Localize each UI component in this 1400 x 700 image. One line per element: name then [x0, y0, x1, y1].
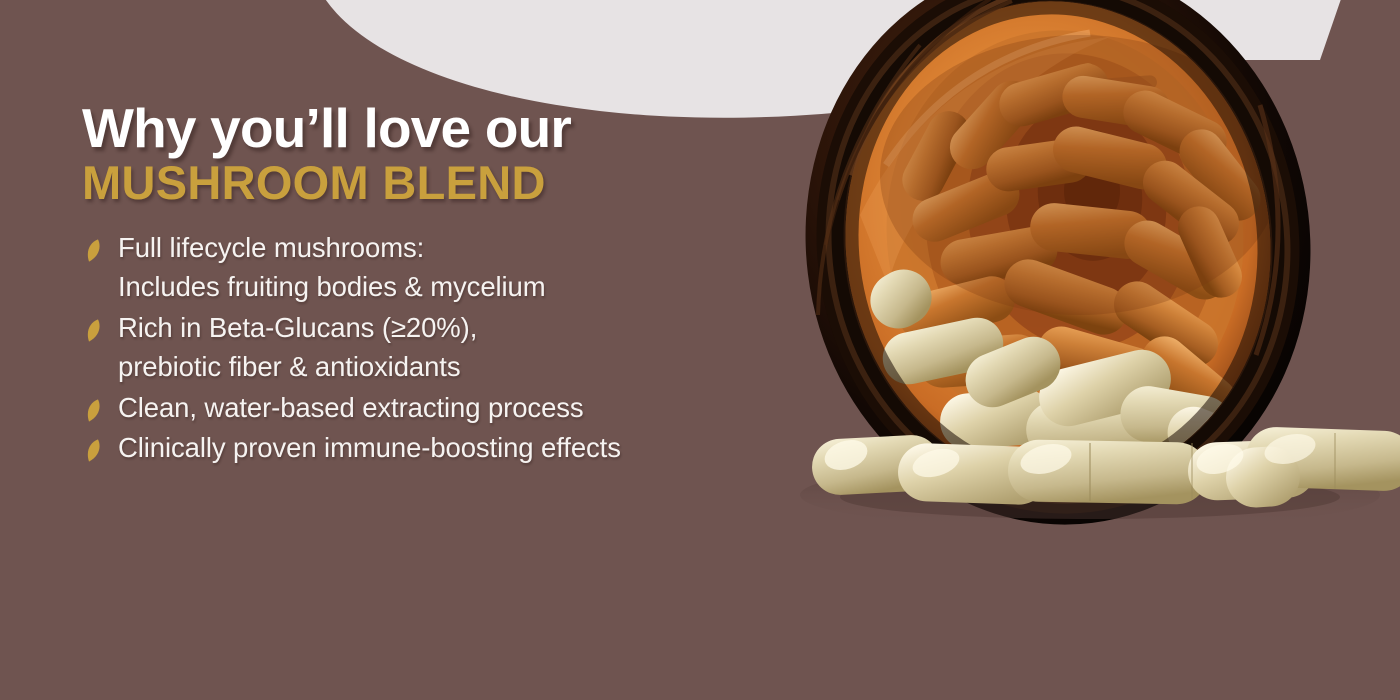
leaf-icon	[86, 238, 101, 263]
benefit-list: Full lifecycle mushrooms: Includes fruit…	[82, 229, 782, 468]
text-content-column: Why you’ll love our MUSHROOM BLEND Full …	[82, 100, 782, 470]
promotional-banner: Why you’ll love our MUSHROOM BLEND Full …	[0, 0, 1400, 700]
page-title-line1: Why you’ll love our	[82, 100, 782, 156]
list-item: Clinically proven immune-boosting effect…	[82, 429, 782, 468]
product-image-bottle-with-capsules	[790, 0, 1400, 545]
list-item-line: Clean, water-based extracting process	[118, 389, 782, 428]
list-item: Rich in Beta-Glucans (≥20%), prebiotic f…	[82, 309, 782, 387]
list-item: Clean, water-based extracting process	[82, 389, 782, 428]
list-item-line: prebiotic fiber & antioxidants	[118, 348, 782, 387]
leaf-icon	[86, 398, 101, 423]
list-item-line: Rich in Beta-Glucans (≥20%),	[118, 309, 782, 348]
list-item-line: Full lifecycle mushrooms:	[118, 229, 782, 268]
list-item-line: Clinically proven immune-boosting effect…	[118, 429, 782, 468]
leaf-icon	[86, 318, 101, 343]
list-item: Full lifecycle mushrooms: Includes fruit…	[82, 229, 782, 307]
leaf-icon	[86, 438, 101, 463]
page-title-line2: MUSHROOM BLEND	[82, 158, 782, 207]
list-item-line: Includes fruiting bodies & mycelium	[118, 268, 782, 307]
